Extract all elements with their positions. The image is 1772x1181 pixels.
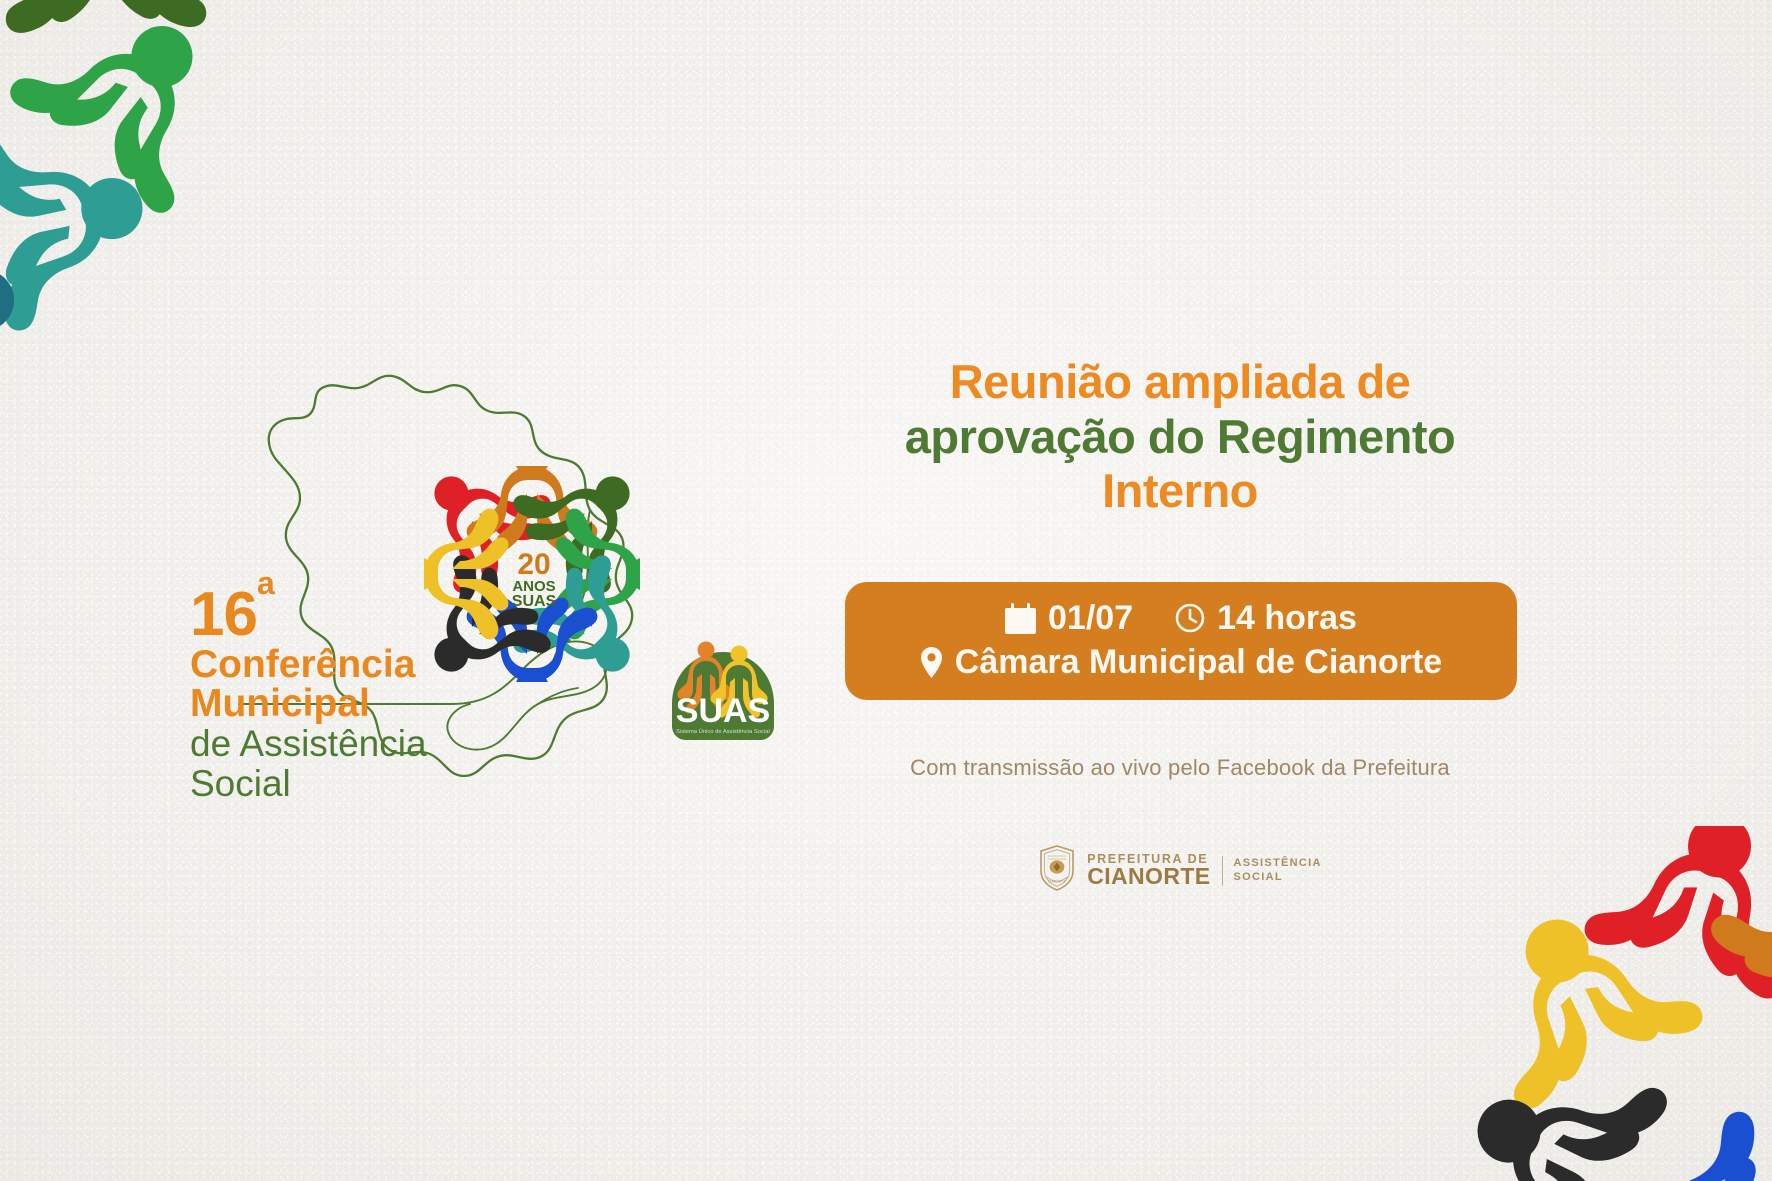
conference-line-assistencia: de Assistência bbox=[190, 724, 500, 764]
conference-line-social: Social bbox=[190, 764, 500, 804]
event-location: Câmara Municipal de Cianorte bbox=[955, 642, 1442, 682]
conference-line-conferencia: Conferência bbox=[190, 645, 500, 685]
right-content-panel: Reunião ampliada de aprovação do Regimen… bbox=[830, 0, 1772, 1181]
conference-line-municipal: Municipal bbox=[190, 684, 500, 724]
coat-of-arms-icon: CIANORTE bbox=[1038, 845, 1076, 896]
prefeitura-cianorte-logo: CIANORTE PREFEITURA DE CIANORTE ASSISTÊN… bbox=[830, 845, 1530, 896]
prefeitura-wordmark: PREFEITURA DE CIANORTE bbox=[1087, 853, 1210, 889]
prefeitura-line-2: CIANORTE bbox=[1087, 865, 1210, 888]
department-line-2: SOCIAL bbox=[1234, 871, 1322, 885]
conference-title-block: 16a Conferência Municipal de Assistência… bbox=[190, 585, 500, 803]
calendar-icon bbox=[1005, 602, 1036, 635]
conference-edition-number: 16 bbox=[190, 580, 257, 649]
event-date: 01/07 bbox=[1048, 598, 1133, 638]
clock-icon bbox=[1175, 603, 1205, 633]
event-details-badge: 01/07 14 horas Câmara Municipal de Ciano… bbox=[845, 582, 1517, 700]
left-branding-panel: 20 ANOS SUAS SUAS Sistema Único de Assis… bbox=[0, 0, 830, 1181]
department-line-1: ASSISTÊNCIA bbox=[1234, 857, 1322, 871]
headline-line-1: Reunião ampliada de bbox=[950, 355, 1411, 408]
anniversary-label-suas: SUAS bbox=[512, 593, 557, 610]
event-location-row: Câmara Municipal de Cianorte bbox=[855, 642, 1507, 682]
logo-divider bbox=[1222, 856, 1223, 886]
svg-text:CIANORTE: CIANORTE bbox=[1048, 880, 1067, 884]
event-headline: Reunião ampliada de aprovação do Regimen… bbox=[830, 355, 1530, 519]
map-pin-icon bbox=[920, 646, 943, 679]
suas-title: SUAS bbox=[676, 692, 770, 730]
conference-edition: 16a bbox=[190, 585, 500, 645]
anniversary-number: 20 bbox=[517, 548, 550, 581]
event-datetime-row: 01/07 14 horas bbox=[855, 598, 1507, 638]
suas-subtitle: Sistema Único de Assistência Social bbox=[676, 728, 770, 735]
headline-line-2: aprovação do Regimento bbox=[905, 410, 1456, 463]
conference-edition-ordinal: a bbox=[257, 565, 274, 601]
department-label: ASSISTÊNCIA SOCIAL bbox=[1234, 857, 1322, 885]
live-stream-note: Com transmissão ao vivo pelo Facebook da… bbox=[830, 755, 1530, 781]
headline-line-3: Interno bbox=[1102, 464, 1258, 517]
suas-logo: SUAS Sistema Único de Assistência Social bbox=[664, 630, 782, 757]
event-time: 14 horas bbox=[1217, 598, 1357, 638]
